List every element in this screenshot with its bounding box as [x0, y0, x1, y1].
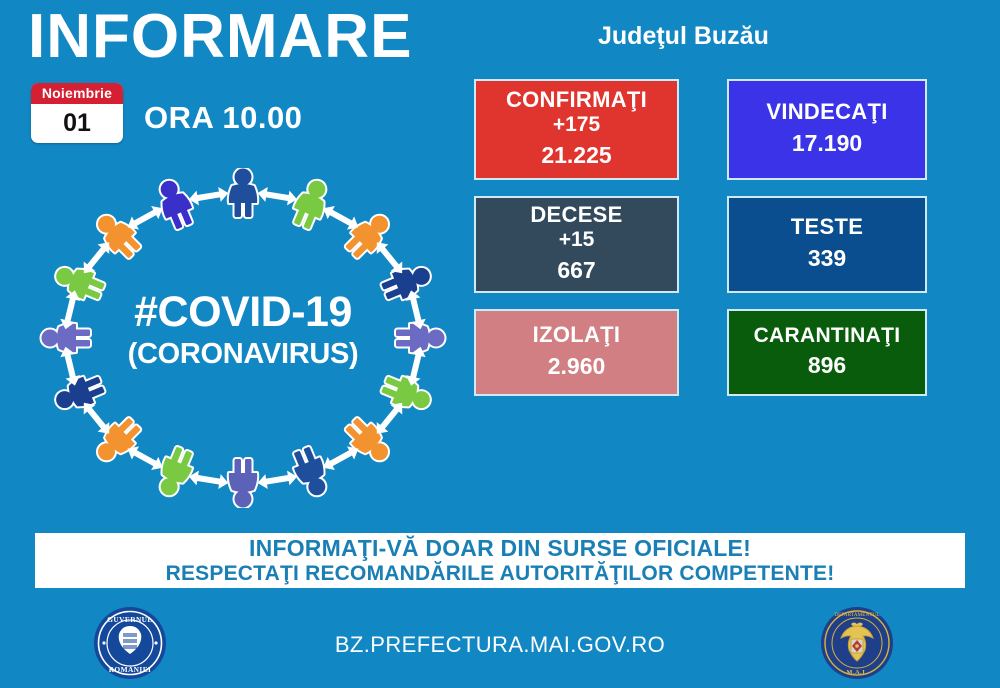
banner-line-1: INFORMAŢI-VĂ DOAR DIN SURSE OFICIALE! — [249, 535, 751, 561]
person-figure — [288, 444, 333, 500]
svg-text:GUVERNUL: GUVERNUL — [107, 615, 153, 624]
guvernul-romaniei-seal-icon: GUVERNUL ROMÂNIEI — [93, 606, 167, 680]
person-figure — [51, 371, 107, 416]
stat-label-decese: DECESE — [530, 203, 622, 228]
public-advice-banner: INFORMAŢI-VĂ DOAR DIN SURSE OFICIALE! RE… — [35, 533, 965, 588]
double-arrow-icon — [188, 186, 230, 207]
person-figure — [379, 260, 435, 305]
county-subtitle: Judeţul Buzău — [598, 22, 898, 51]
stat-total-confirmati: 21.225 — [541, 141, 611, 171]
person-figure — [288, 176, 333, 232]
person-figure — [153, 176, 198, 232]
stat-label-confirmati: CONFIRMAŢI — [506, 88, 647, 113]
double-arrow-icon — [188, 469, 230, 490]
page-title: INFORMARE — [28, 4, 412, 69]
stat-delta-decese: +15 — [559, 228, 595, 252]
stat-card-izolati: IZOLAŢI 2.960 — [474, 309, 679, 396]
departamentul-situatii-urgenta-seal-icon: DEPARTAMENTUL M.A.I. — [820, 606, 894, 680]
person-figure — [229, 169, 257, 218]
stat-total-izolati: 2.960 — [548, 352, 606, 382]
stat-total-vindecati: 17.190 — [792, 129, 862, 159]
stat-card-confirmati: CONFIRMAŢI +175 21.225 — [474, 79, 679, 180]
person-figure — [153, 444, 198, 500]
person-figure — [229, 459, 257, 508]
svg-text:DEPARTAMENTUL: DEPARTAMENTUL — [834, 613, 879, 618]
svg-text:ROMÂNIEI: ROMÂNIEI — [109, 664, 152, 674]
calendar-month-label: Noiembrie — [31, 83, 123, 104]
stat-card-vindecati: VINDECAŢI 17.190 — [727, 79, 927, 180]
double-arrow-icon — [256, 186, 298, 207]
person-figure — [379, 371, 435, 416]
svg-text:M.A.I.: M.A.I. — [847, 669, 868, 676]
stat-card-teste: TESTE 339 — [727, 196, 927, 293]
stat-label-carantinati: CARANTINAŢI — [754, 324, 901, 348]
stat-label-teste: TESTE — [791, 215, 863, 240]
stat-delta-confirmati: +175 — [553, 113, 600, 137]
stat-total-carantinati: 896 — [808, 351, 846, 381]
stat-total-teste: 339 — [808, 244, 846, 274]
stat-label-vindecati: VINDECAŢI — [766, 100, 887, 125]
banner-line-2: RESPECTAŢI RECOMANDĂRILE AUTORITĂŢILOR C… — [166, 562, 835, 586]
covid-report-poster: INFORMARE Judeţul Buzău Noiembrie 01 ORA… — [0, 0, 1000, 688]
date-calendar-icon: Noiembrie 01 — [31, 83, 123, 143]
calendar-day-label: 01 — [31, 104, 123, 143]
stat-total-decese: 667 — [557, 256, 595, 286]
covid-people-circle-illustration — [28, 168, 458, 508]
stat-label-izolati: IZOLAŢI — [533, 323, 621, 348]
stat-card-decese: DECESE +15 667 — [474, 196, 679, 293]
report-hour-label: ORA 10.00 — [144, 100, 302, 136]
stat-card-carantinati: CARANTINAŢI 896 — [727, 309, 927, 396]
double-arrow-icon — [256, 469, 298, 490]
person-figure — [51, 260, 107, 305]
